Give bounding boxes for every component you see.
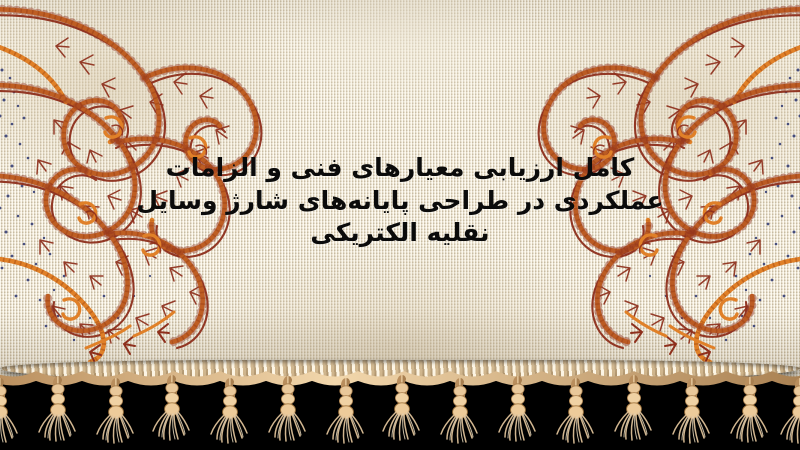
slide-title: کامل ارزیابی معیارهای فنی و الزامات عملک… <box>0 152 800 250</box>
tassel-fringe <box>0 368 800 450</box>
title-line-3: نقلیه الکتریکی <box>0 217 800 250</box>
slide-canvas: کامل ارزیابی معیارهای فنی و الزامات عملک… <box>0 0 800 450</box>
title-line-1: کامل ارزیابی معیارهای فنی و الزامات <box>0 152 800 185</box>
title-line-2: عملکردی در طراحی پایانه‌های شارژ وسایل <box>0 185 800 218</box>
